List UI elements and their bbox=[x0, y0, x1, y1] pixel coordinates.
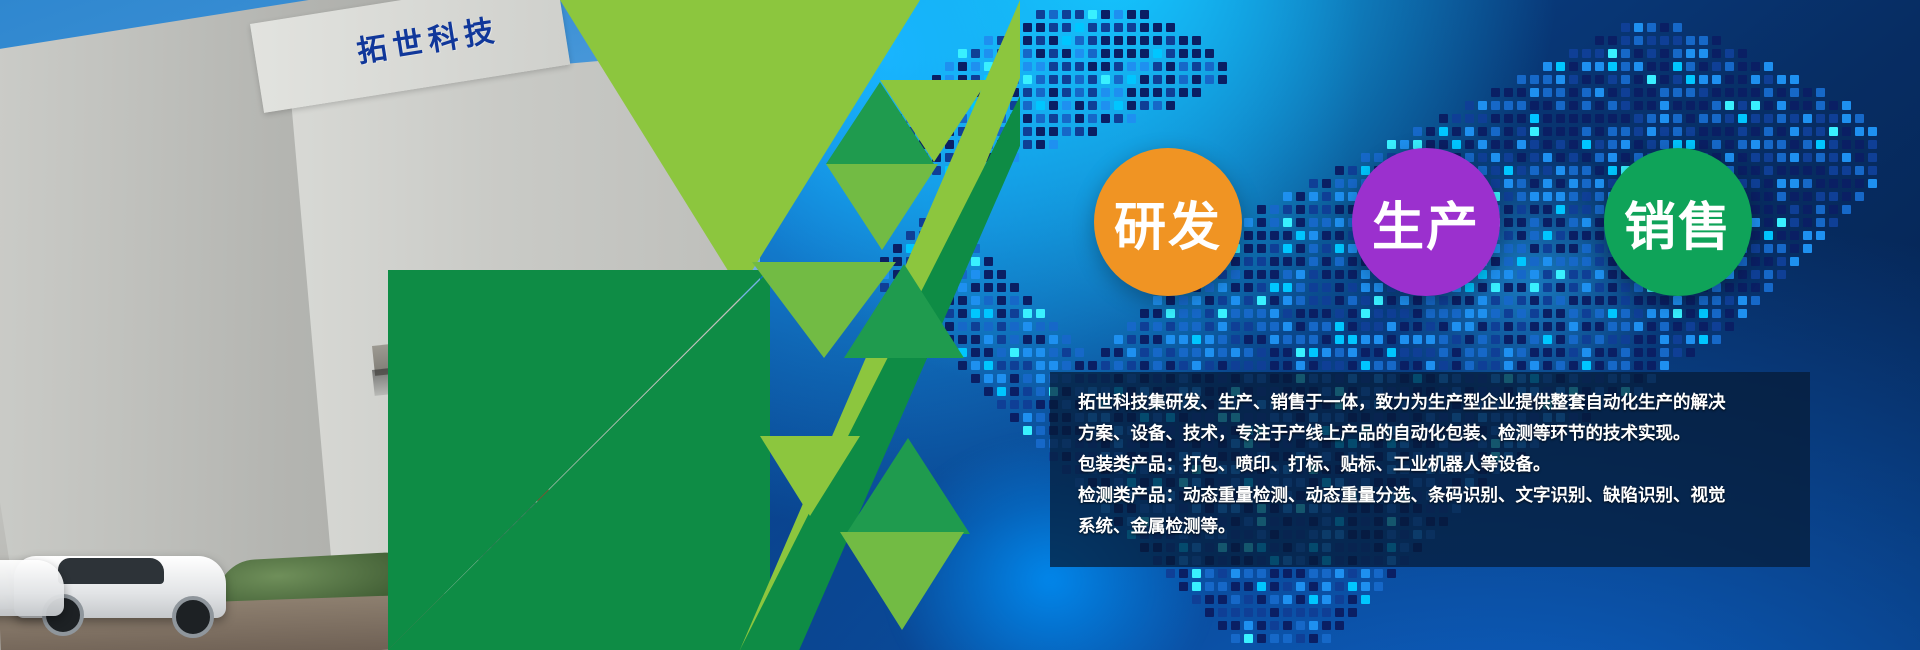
seam-triangle-light-5 bbox=[760, 436, 860, 516]
car-wheel bbox=[172, 596, 214, 638]
badge-sales-label: 销售 bbox=[1624, 185, 1732, 260]
seam-triangle-dark-3 bbox=[846, 438, 970, 534]
description-text: 拓世科技集研发、生产、销售于一体，致力为生产型企业提供整套自动化生产的解决 方案… bbox=[1078, 388, 1808, 543]
description-line-3: 包装类产品：打包、喷印、打标、贴标、工业机器人等设备。 bbox=[1078, 450, 1808, 481]
company-banner: 拓世科技 研发 生产 销售 拓世科技集研发、生产 bbox=[0, 0, 1920, 650]
parked-car bbox=[0, 560, 64, 616]
description-line-4: 检测类产品：动态重量检测、动态重量分选、条码识别、文字识别、缺陷识别、视觉 bbox=[1078, 481, 1808, 512]
description-line-2: 方案、设备、技术，专注于产线上产品的自动化包装、检测等环节的技术实现。 bbox=[1078, 419, 1808, 450]
seam-triangle-dark-2 bbox=[844, 264, 964, 358]
car-window bbox=[58, 558, 164, 584]
badge-production-label: 生产 bbox=[1372, 185, 1480, 260]
seam-triangle-dark-1 bbox=[826, 82, 934, 164]
seam-triangle-light-2 bbox=[826, 164, 938, 250]
badge-rd[interactable]: 研发 bbox=[1094, 148, 1242, 296]
description-line-5: 系统、金属检测等。 bbox=[1078, 512, 1808, 543]
badge-production[interactable]: 生产 bbox=[1352, 148, 1500, 296]
seam-triangle-light-4 bbox=[840, 532, 964, 630]
description-line-1: 拓世科技集研发、生产、销售于一体，致力为生产型企业提供整套自动化生产的解决 bbox=[1078, 388, 1808, 419]
badge-sales[interactable]: 销售 bbox=[1604, 148, 1752, 296]
badge-rd-label: 研发 bbox=[1114, 185, 1222, 260]
